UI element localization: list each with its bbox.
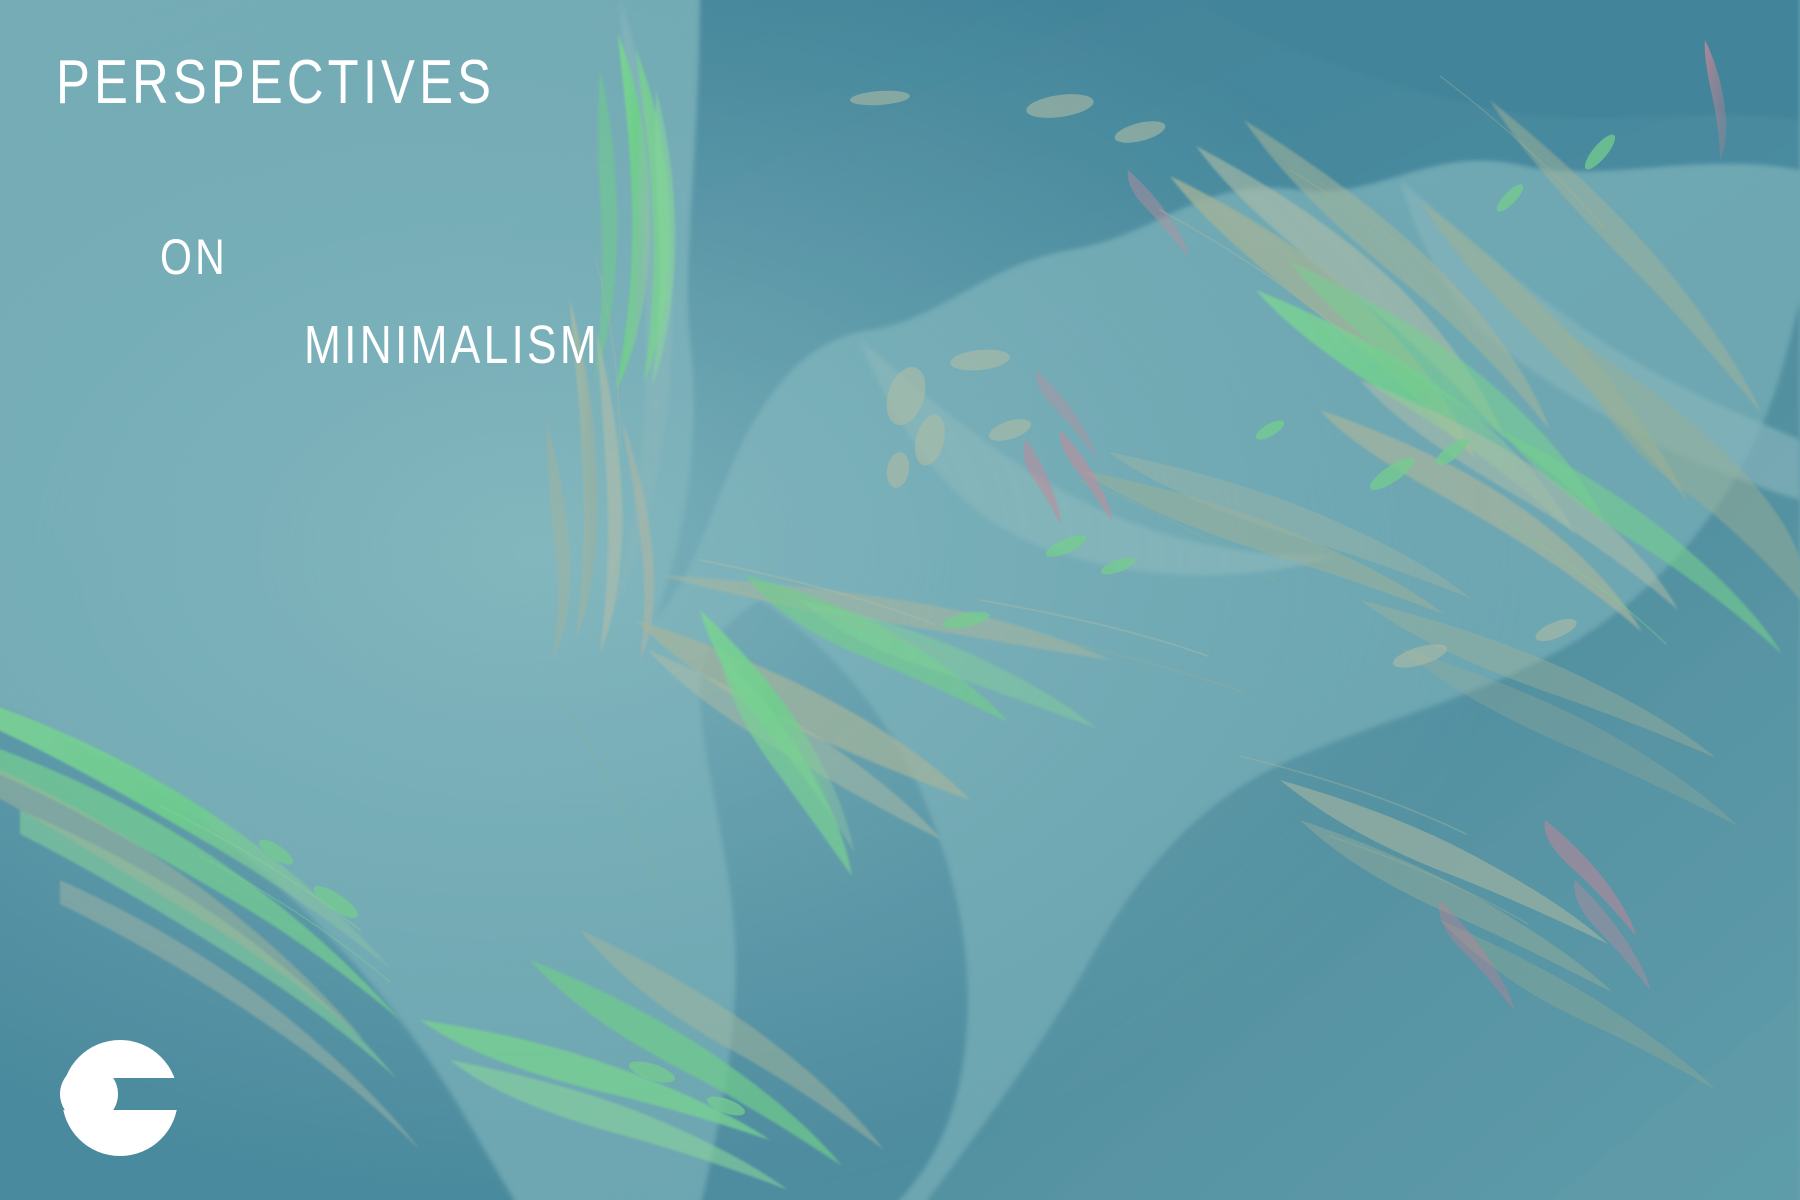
poster-canvas: PERSPECTIVES ON MINIMALISM [0,0,1800,1200]
background-artwork [0,0,1800,1200]
logo-dot [60,1065,118,1123]
split-circle-logo[interactable] [44,1036,180,1168]
